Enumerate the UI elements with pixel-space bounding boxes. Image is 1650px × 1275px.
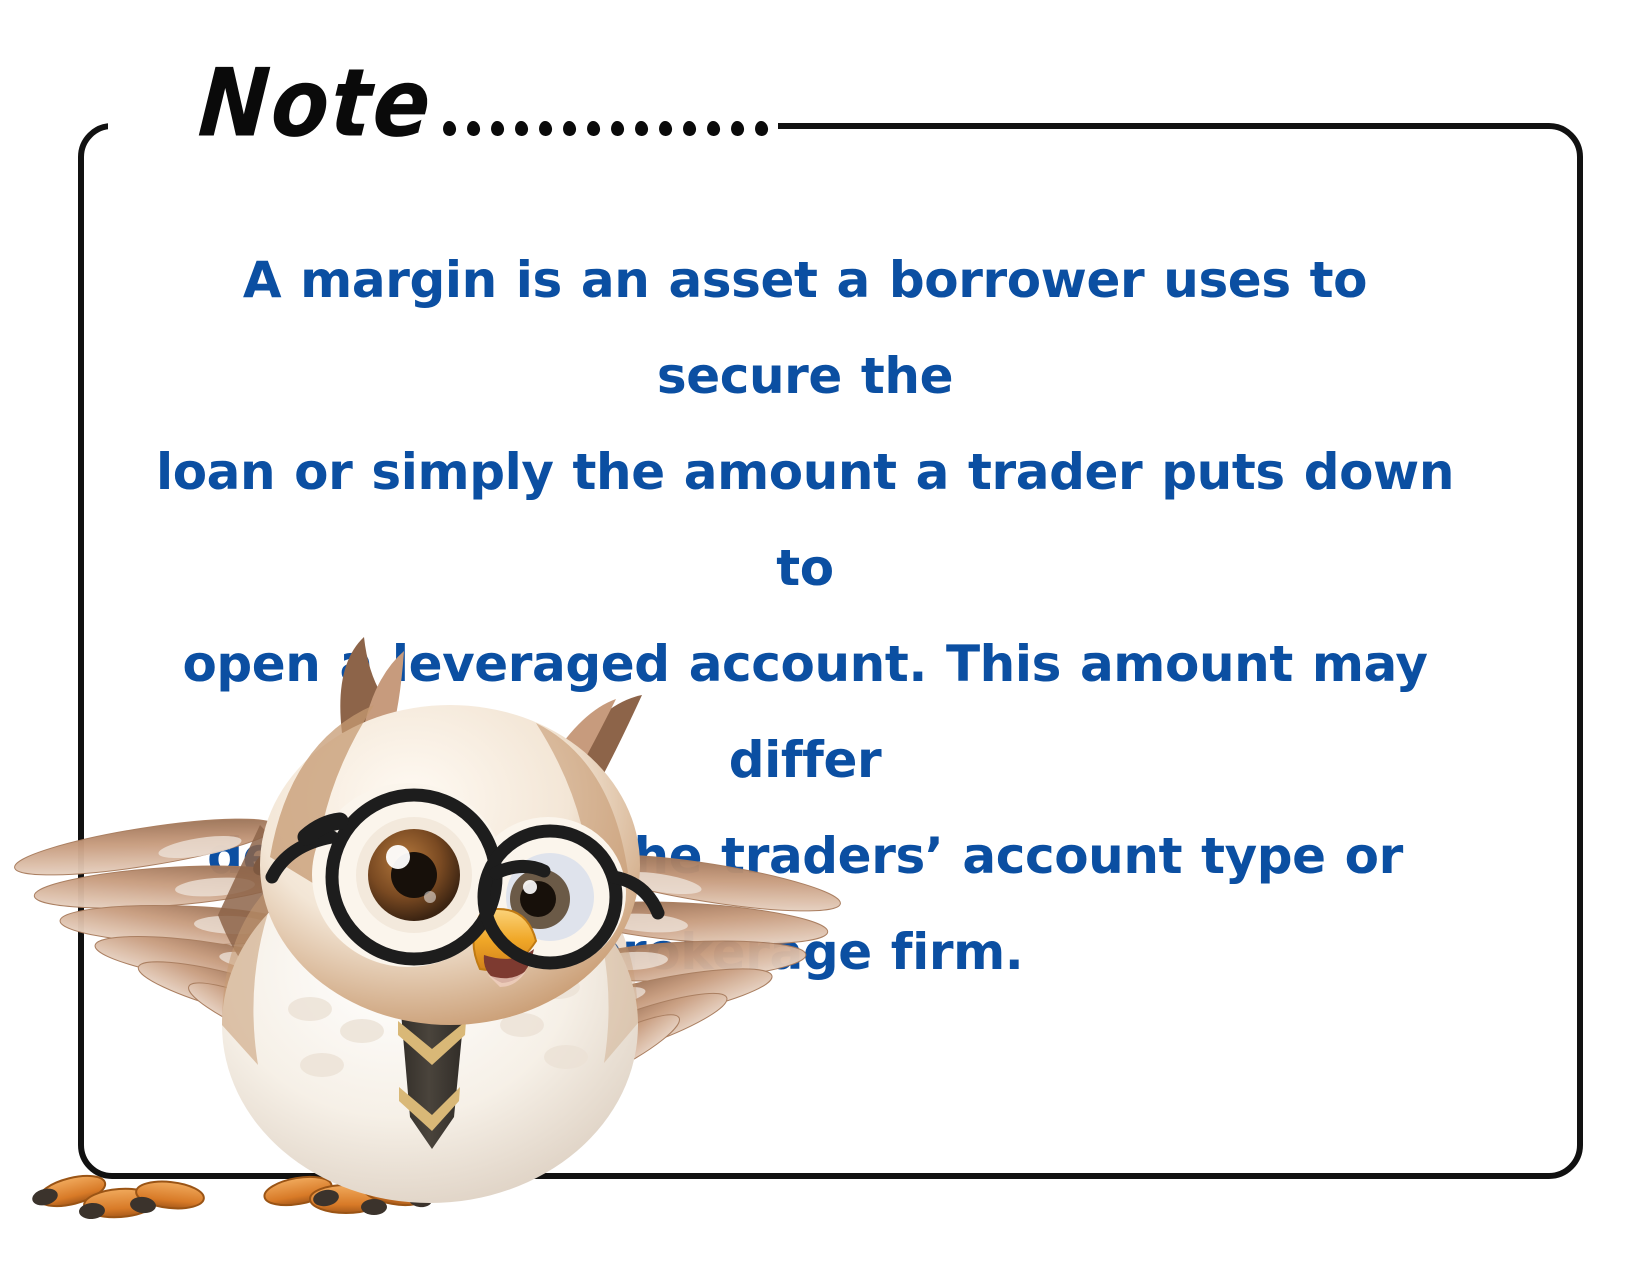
note-title-dots [443,121,779,150]
note-body-line-1: A margin is an asset a borrower uses to … [150,232,1460,424]
note-card-canvas: Note A margin is an asset a borrower use… [0,0,1650,1275]
note-title: Note [196,56,436,150]
note-body-line-3: open a leveraged account. This amount ma… [150,616,1460,808]
note-body-line-4: depending on the traders’ account type o… [150,808,1460,904]
note-body-line-2: loan or simply the amount a trader puts … [150,424,1460,616]
note-body-line-5: brokerage firm. [150,904,1460,1000]
note-title-group: Note [196,66,779,150]
note-body-text: A margin is an asset a borrower uses to … [150,232,1460,1000]
